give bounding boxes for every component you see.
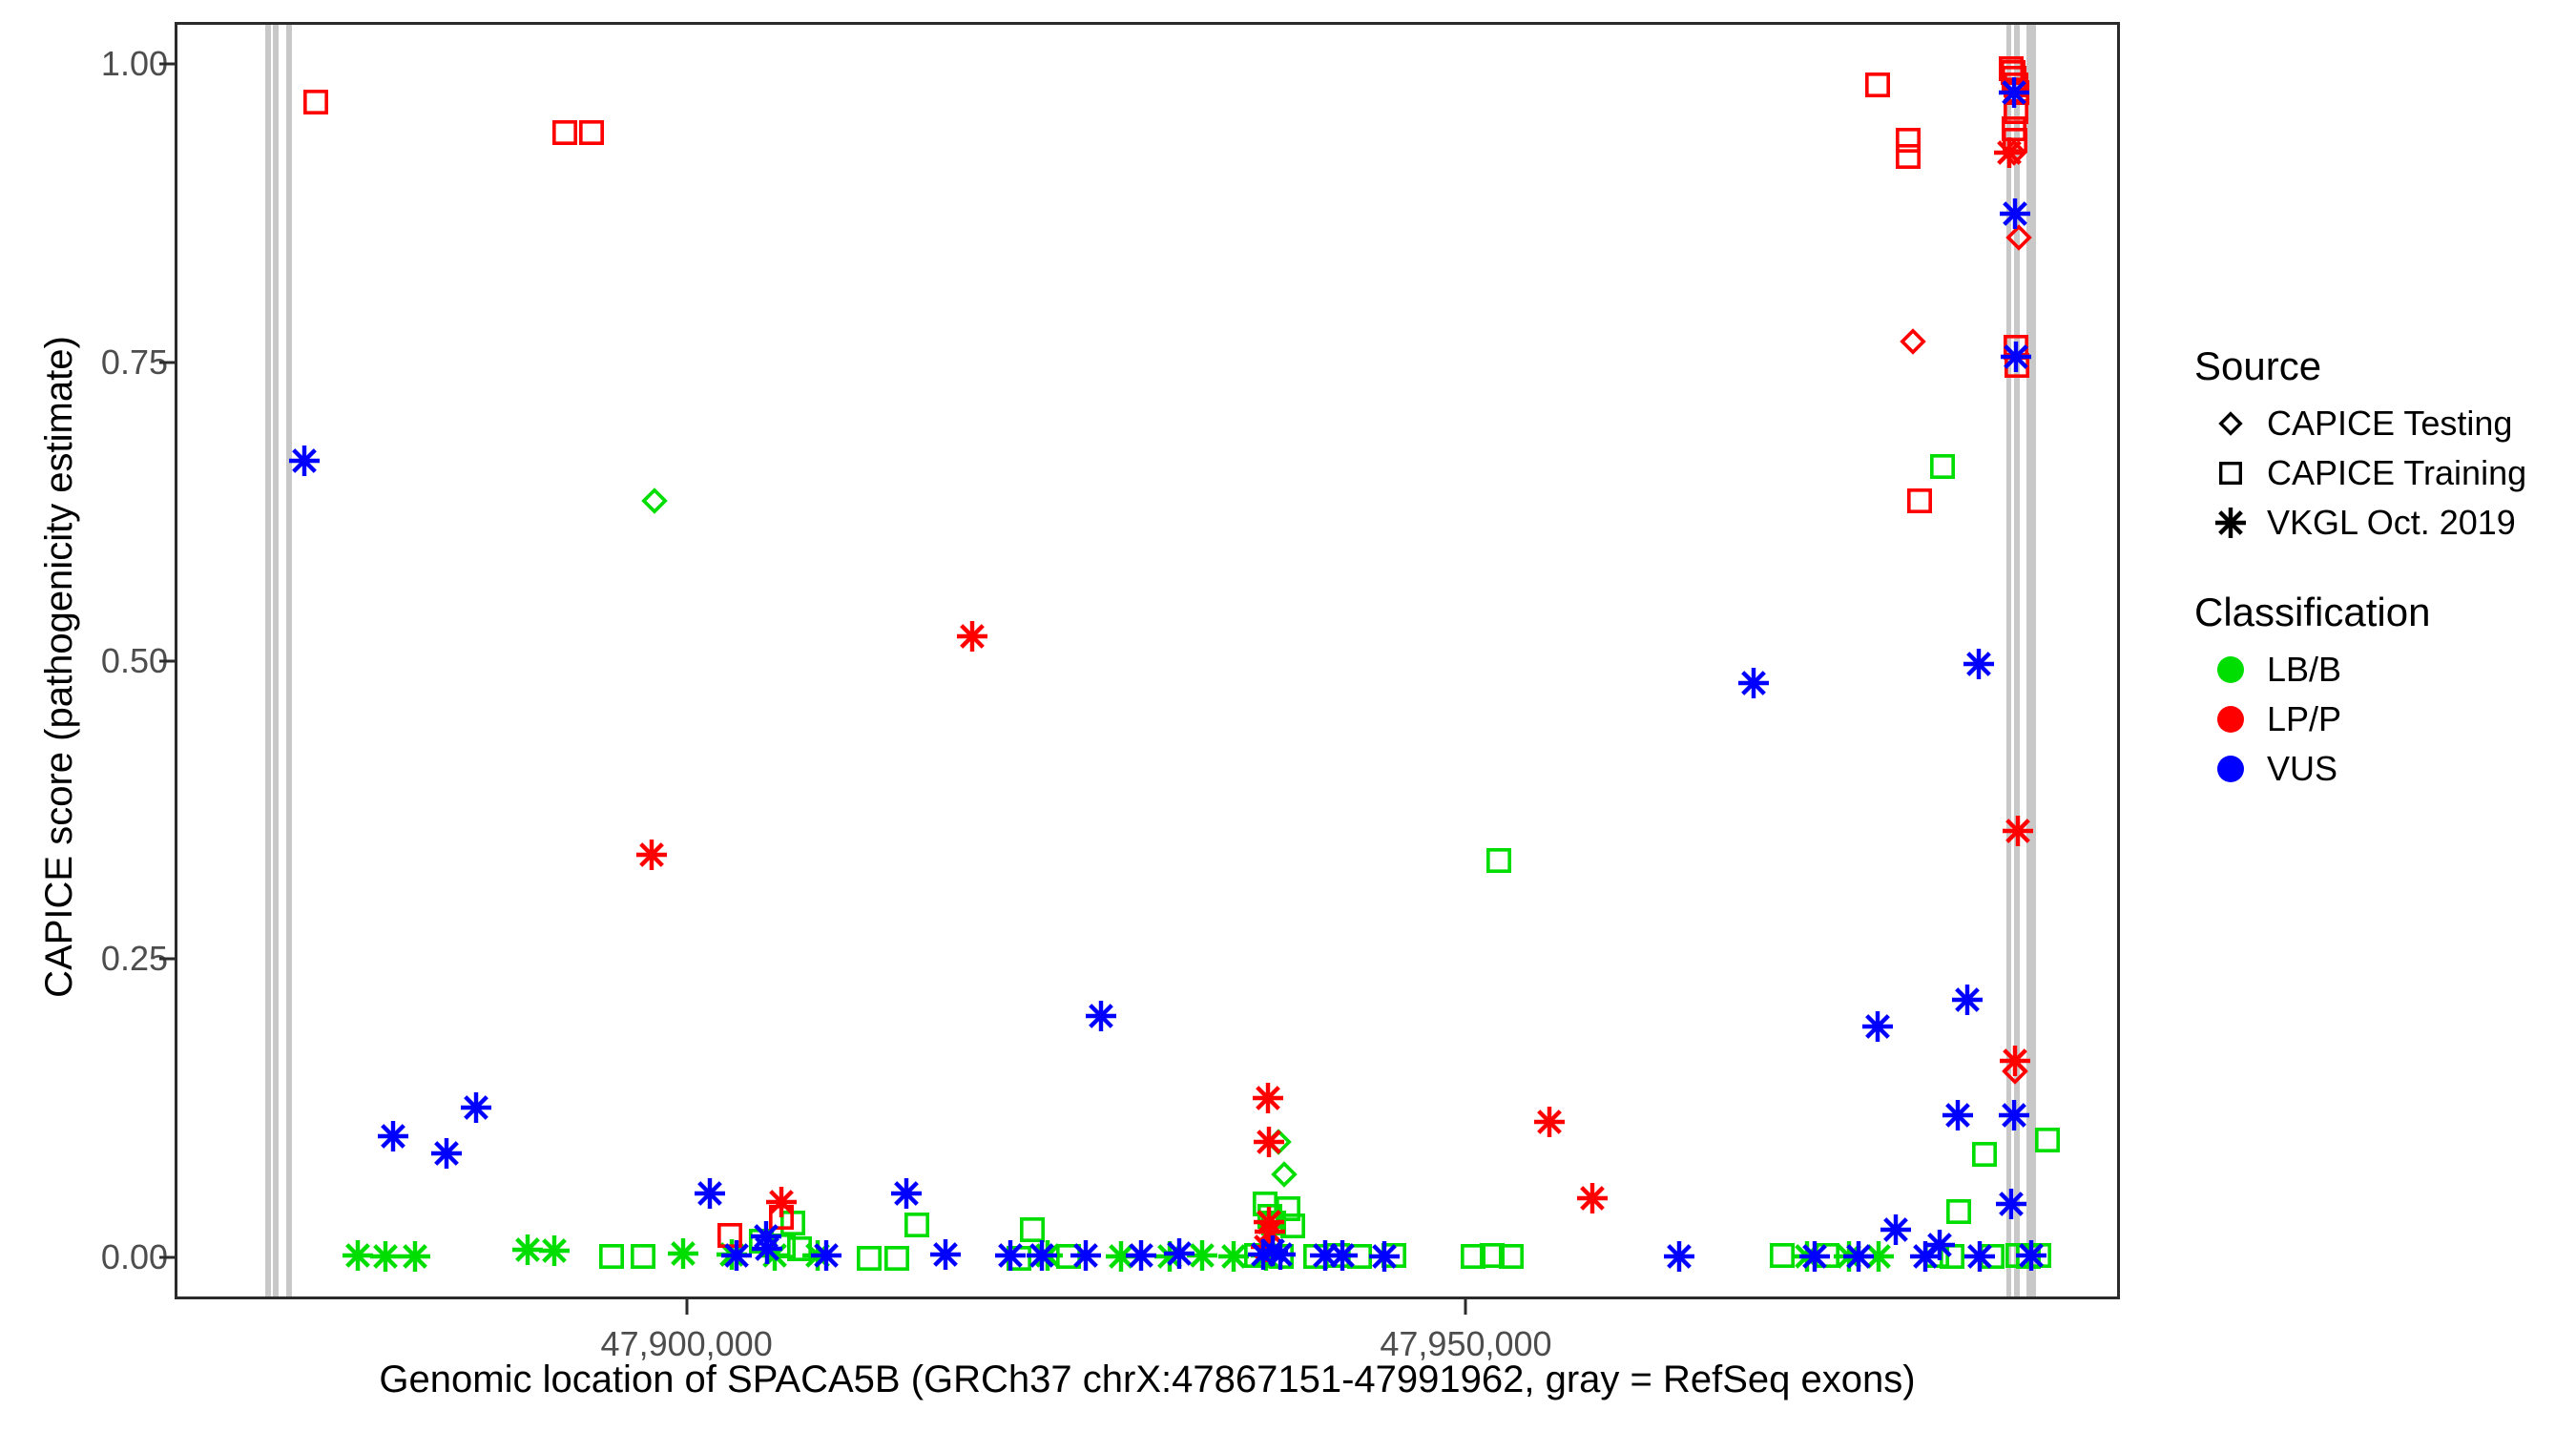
data-point	[1923, 1229, 1956, 1261]
data-point	[1963, 1240, 1996, 1273]
legend-item-label: LP/P	[2267, 699, 2341, 739]
data-point	[883, 1245, 910, 1272]
data-point	[1880, 1213, 1912, 1246]
data-point	[1031, 1239, 1064, 1272]
data-point	[302, 89, 329, 115]
square-icon	[2194, 461, 2267, 486]
data-point	[720, 1239, 753, 1272]
legend-item-label: CAPICE Training	[2267, 453, 2526, 493]
legend-item-label: VUS	[2267, 749, 2337, 789]
data-point	[786, 1235, 813, 1262]
x-tick-label: 47,900,000	[601, 1324, 773, 1364]
data-point	[342, 1239, 374, 1272]
data-point	[1302, 1243, 1329, 1270]
exon-band	[2006, 25, 2011, 1296]
data-point	[1895, 127, 1922, 154]
data-point	[1368, 1240, 1401, 1273]
data-point	[1250, 1231, 1282, 1263]
data-point	[399, 1240, 431, 1273]
data-point	[1842, 1240, 1875, 1273]
data-point	[1125, 1239, 1157, 1272]
data-point	[1798, 1240, 1831, 1273]
legend-classification-items: LB/BLP/PVUS	[2194, 645, 2576, 794]
data-point	[1260, 1210, 1287, 1236]
legend-item-label: VKGL Oct. 2019	[2267, 503, 2516, 543]
data-point	[1006, 1245, 1032, 1272]
data-point	[1498, 1243, 1525, 1270]
data-point	[994, 1239, 1027, 1272]
y-tick-label: 0.50	[0, 641, 168, 681]
data-point	[1945, 1198, 1972, 1225]
data-point	[1929, 453, 1956, 480]
data-point	[1971, 1141, 1998, 1168]
diamond-icon	[2194, 411, 2267, 436]
data-point	[856, 1245, 883, 1272]
exon-band	[286, 25, 293, 1296]
data-point	[810, 1239, 842, 1272]
data-point	[1939, 1243, 1965, 1270]
legend-source-title: Source	[2194, 343, 2576, 389]
data-point	[1253, 1206, 1285, 1238]
data-point	[1026, 1239, 1058, 1272]
data-point	[1923, 1242, 1950, 1269]
data-point	[770, 1233, 797, 1259]
asterisk-icon	[2194, 507, 2267, 539]
legend-item-lb-b[interactable]: LB/B	[2194, 645, 2576, 695]
data-point	[890, 1177, 923, 1210]
legend-item-diamond[interactable]: CAPICE Testing	[2194, 399, 2576, 448]
data-point	[748, 1228, 775, 1255]
x-axis-title: Genomic location of SPACA5B (GRCh37 chrX…	[175, 1358, 2120, 1401]
data-point	[751, 1233, 783, 1265]
data-point	[1381, 1242, 1407, 1269]
y-tick-label: 0.00	[0, 1237, 168, 1277]
data-point	[1979, 1243, 2005, 1270]
data-point	[1253, 1126, 1285, 1158]
data-point	[377, 1120, 409, 1152]
legend-item-lp-p[interactable]: LP/P	[2194, 695, 2576, 744]
data-point	[1479, 1242, 1506, 1269]
y-tick-mark	[159, 361, 175, 363]
data-point	[288, 445, 321, 477]
data-point	[1247, 1238, 1279, 1271]
data-point	[630, 1243, 656, 1270]
legend-item-vus[interactable]: VUS	[2194, 744, 2576, 794]
data-point	[1864, 72, 1891, 98]
plot-panel	[175, 22, 2120, 1299]
data-point	[1252, 1191, 1278, 1217]
exon-band	[2026, 25, 2036, 1296]
data-point	[667, 1237, 699, 1270]
exon-band	[273, 25, 278, 1296]
data-point	[641, 487, 668, 514]
data-point	[1309, 1239, 1341, 1272]
data-point	[1217, 1240, 1250, 1273]
data-point	[694, 1177, 726, 1210]
data-point	[460, 1091, 492, 1124]
data-point	[929, 1238, 962, 1271]
data-point	[750, 1220, 782, 1253]
y-tick-mark	[159, 659, 175, 662]
data-point	[1460, 1243, 1486, 1270]
x-tick-mark	[1465, 1299, 1467, 1315]
data-point	[1105, 1240, 1137, 1273]
data-point	[904, 1212, 930, 1238]
legend-source-items: CAPICE TestingCAPICE TrainingVKGL Oct. 2…	[2194, 399, 2576, 548]
legend-item-label: CAPICE Testing	[2267, 404, 2512, 444]
data-point	[1963, 648, 1995, 680]
data-point	[1279, 1213, 1306, 1239]
circle-icon	[2194, 705, 2267, 734]
data-point	[1271, 1161, 1298, 1188]
data-point	[1254, 1215, 1286, 1248]
data-point	[1243, 1242, 1270, 1269]
data-point	[1085, 1000, 1117, 1032]
legend-item-square[interactable]: CAPICE Training	[2194, 448, 2576, 498]
data-point	[1909, 1240, 1942, 1273]
data-point	[1862, 1240, 1895, 1273]
data-point	[1250, 1239, 1282, 1272]
data-point	[1861, 1010, 1894, 1043]
y-tick-label: 0.75	[0, 342, 168, 383]
data-point	[758, 1239, 791, 1272]
x-tick-label: 47,950,000	[1380, 1324, 1551, 1364]
data-point	[1900, 328, 1926, 355]
chart-root: CAPICE score (pathogenicity estimate) Ge…	[0, 0, 2576, 1431]
plot-area	[177, 25, 2117, 1296]
data-point	[1324, 1242, 1351, 1269]
data-point	[1257, 1203, 1283, 1230]
data-point	[1019, 1216, 1046, 1243]
data-point	[1942, 1099, 1974, 1131]
data-point	[538, 1234, 571, 1267]
legend-item-label: LB/B	[2267, 650, 2341, 690]
data-point	[2034, 1127, 2061, 1153]
data-point	[765, 1186, 798, 1218]
x-tick-mark	[685, 1299, 688, 1315]
data-point	[1895, 143, 1922, 170]
exon-band	[265, 25, 271, 1296]
data-point	[2000, 59, 2026, 86]
legend-item-asterisk[interactable]: VKGL Oct. 2019	[2194, 498, 2576, 548]
data-point	[779, 1210, 806, 1236]
data-point	[1791, 1240, 1823, 1273]
data-point	[1153, 1240, 1186, 1273]
data-point	[1070, 1239, 1102, 1272]
data-point	[1485, 847, 1512, 874]
data-point	[716, 1238, 748, 1271]
data-point	[551, 119, 578, 146]
data-point	[1814, 1242, 1840, 1269]
data-point	[598, 1243, 625, 1270]
data-point	[635, 839, 668, 871]
data-point	[1769, 1242, 1796, 1269]
y-tick-label: 0.25	[0, 939, 168, 979]
circle-icon	[2194, 755, 2267, 783]
data-point	[578, 119, 605, 146]
data-point	[1533, 1106, 1566, 1138]
data-point	[1906, 487, 1933, 514]
data-point	[1186, 1239, 1218, 1272]
data-point	[1576, 1182, 1609, 1214]
data-point	[801, 1239, 834, 1272]
legend-classification-title: Classification	[2194, 590, 2576, 635]
legend-spacer	[2194, 548, 2576, 590]
y-tick-mark	[159, 1256, 175, 1259]
data-point	[511, 1234, 544, 1266]
legend: Source CAPICE TestingCAPICE TrainingVKGL…	[2194, 343, 2576, 794]
y-tick-label: 1.00	[0, 44, 168, 84]
data-point	[1275, 1195, 1301, 1222]
circle-icon	[2194, 655, 2267, 684]
data-point	[430, 1137, 463, 1170]
data-point	[768, 1204, 795, 1231]
data-point	[1265, 1129, 1292, 1155]
data-point	[369, 1240, 402, 1273]
y-tick-mark	[159, 958, 175, 961]
y-tick-mark	[159, 62, 175, 65]
data-point	[1257, 1234, 1289, 1267]
data-point	[1346, 1243, 1373, 1270]
data-point	[1055, 1243, 1082, 1270]
exon-band	[2014, 25, 2019, 1296]
data-point	[1264, 1238, 1297, 1271]
data-point	[1951, 984, 1984, 1016]
data-point	[1252, 1082, 1284, 1114]
data-point	[1737, 667, 1770, 699]
data-point	[1163, 1237, 1195, 1270]
data-point	[717, 1222, 743, 1249]
data-point	[1833, 1240, 1865, 1273]
data-point	[956, 620, 988, 653]
data-point	[1663, 1240, 1695, 1273]
data-point	[1268, 1243, 1295, 1270]
data-point	[1326, 1239, 1359, 1272]
